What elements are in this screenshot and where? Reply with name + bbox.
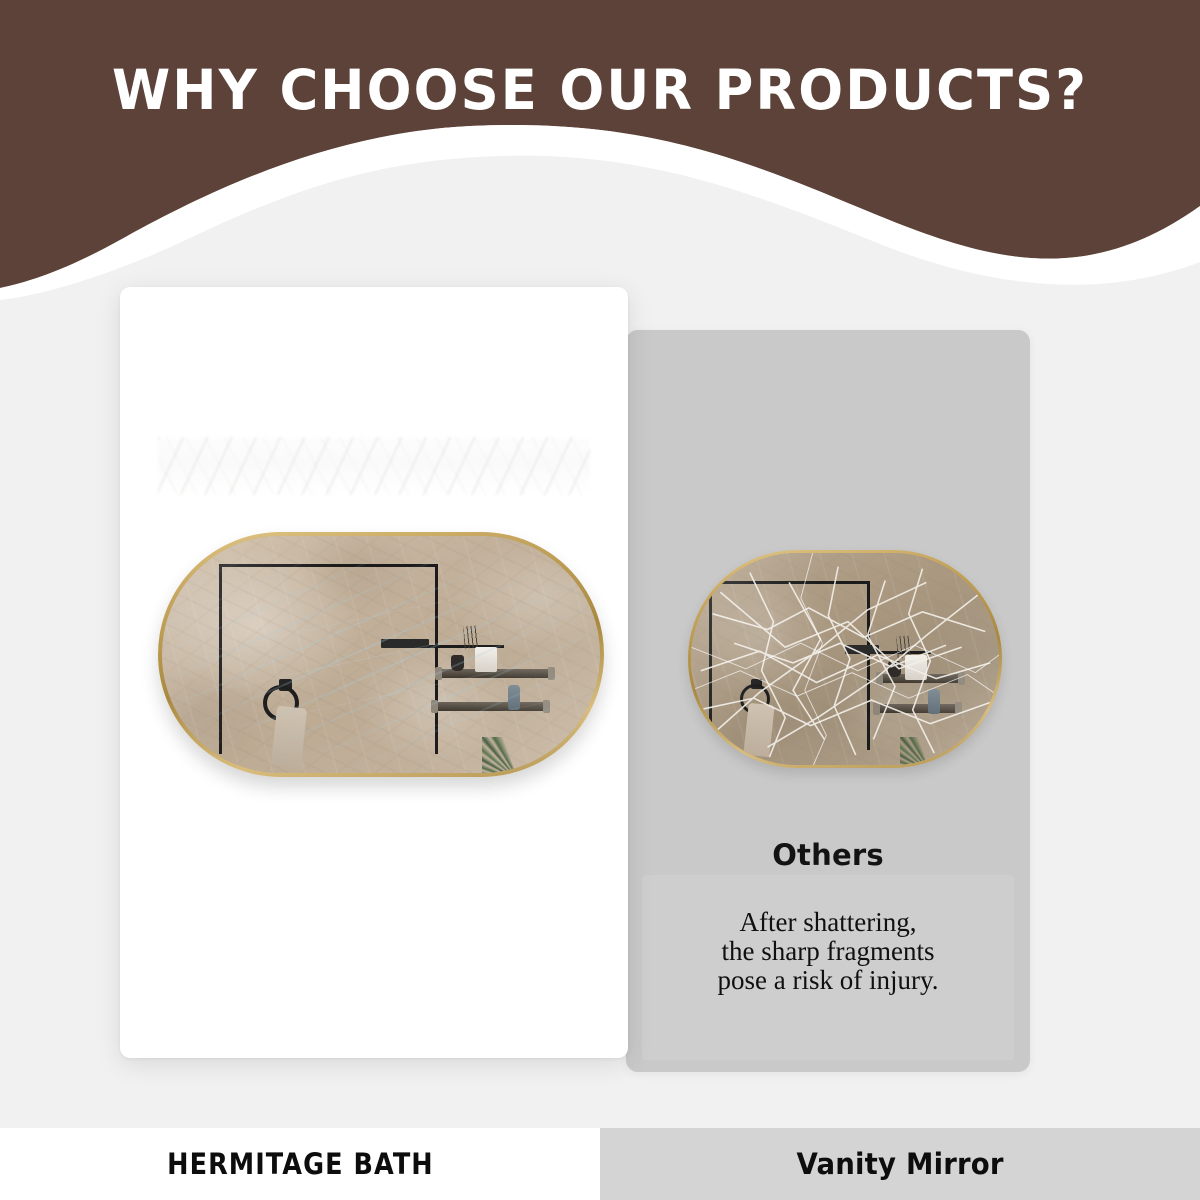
reflected-vase — [888, 661, 901, 677]
mirror-glass — [691, 553, 999, 765]
page-title: WHY CHOOSE OUR PRODUCTS? — [24, 63, 1176, 118]
header-wave-shape — [0, 0, 1200, 300]
footer-product-panel: Vanity Mirror — [600, 1128, 1200, 1200]
others-description-line-1: After shattering, — [640, 908, 1016, 937]
reflected-towel — [271, 705, 307, 768]
ours-faded-backdrop — [158, 437, 590, 495]
others-mirror-image — [688, 550, 1002, 768]
infographic-page: WHY CHOOSE OUR PRODUCTS? — [0, 0, 1200, 1200]
reflected-screen-handle — [381, 639, 429, 648]
reflected-plant — [900, 737, 962, 765]
comparison-stage: Ours Others Using tempered glass reduces… — [0, 260, 1200, 1130]
others-description-line-2: the sharp fragments — [640, 937, 1016, 966]
brand-name: HERMITAGE BATH — [167, 1147, 434, 1181]
mirror-frame — [688, 550, 1002, 768]
reflected-reed-diffuser — [463, 626, 479, 649]
reflected-bottle — [928, 689, 940, 714]
ours-mirror-image — [158, 532, 604, 777]
reflected-screen-handle — [845, 645, 879, 654]
reflected-soap-box — [475, 647, 497, 672]
footer-bar: HERMITAGE BATH Vanity Mirror — [0, 1128, 1200, 1200]
mirror-glass — [162, 536, 600, 773]
mirror-frame — [158, 532, 604, 777]
product-name: Vanity Mirror — [796, 1147, 1003, 1181]
reflected-shelf-lower — [434, 702, 548, 711]
header-banner: WHY CHOOSE OUR PRODUCTS? — [0, 0, 1200, 300]
reflected-bottle — [508, 685, 520, 710]
others-description: After shattering, the sharp fragments po… — [640, 908, 1016, 995]
reflected-shower-screen — [219, 564, 438, 754]
reflected-plant — [482, 737, 556, 773]
others-description-line-3: pose a risk of injury. — [640, 966, 1016, 995]
others-label: Others — [626, 838, 1030, 872]
footer-brand-panel: HERMITAGE BATH — [0, 1128, 600, 1200]
reflected-vase — [451, 655, 464, 671]
reflected-shelf-lower — [876, 704, 959, 713]
reflected-shower-screen — [709, 581, 869, 751]
reflected-soap-box — [905, 655, 927, 680]
